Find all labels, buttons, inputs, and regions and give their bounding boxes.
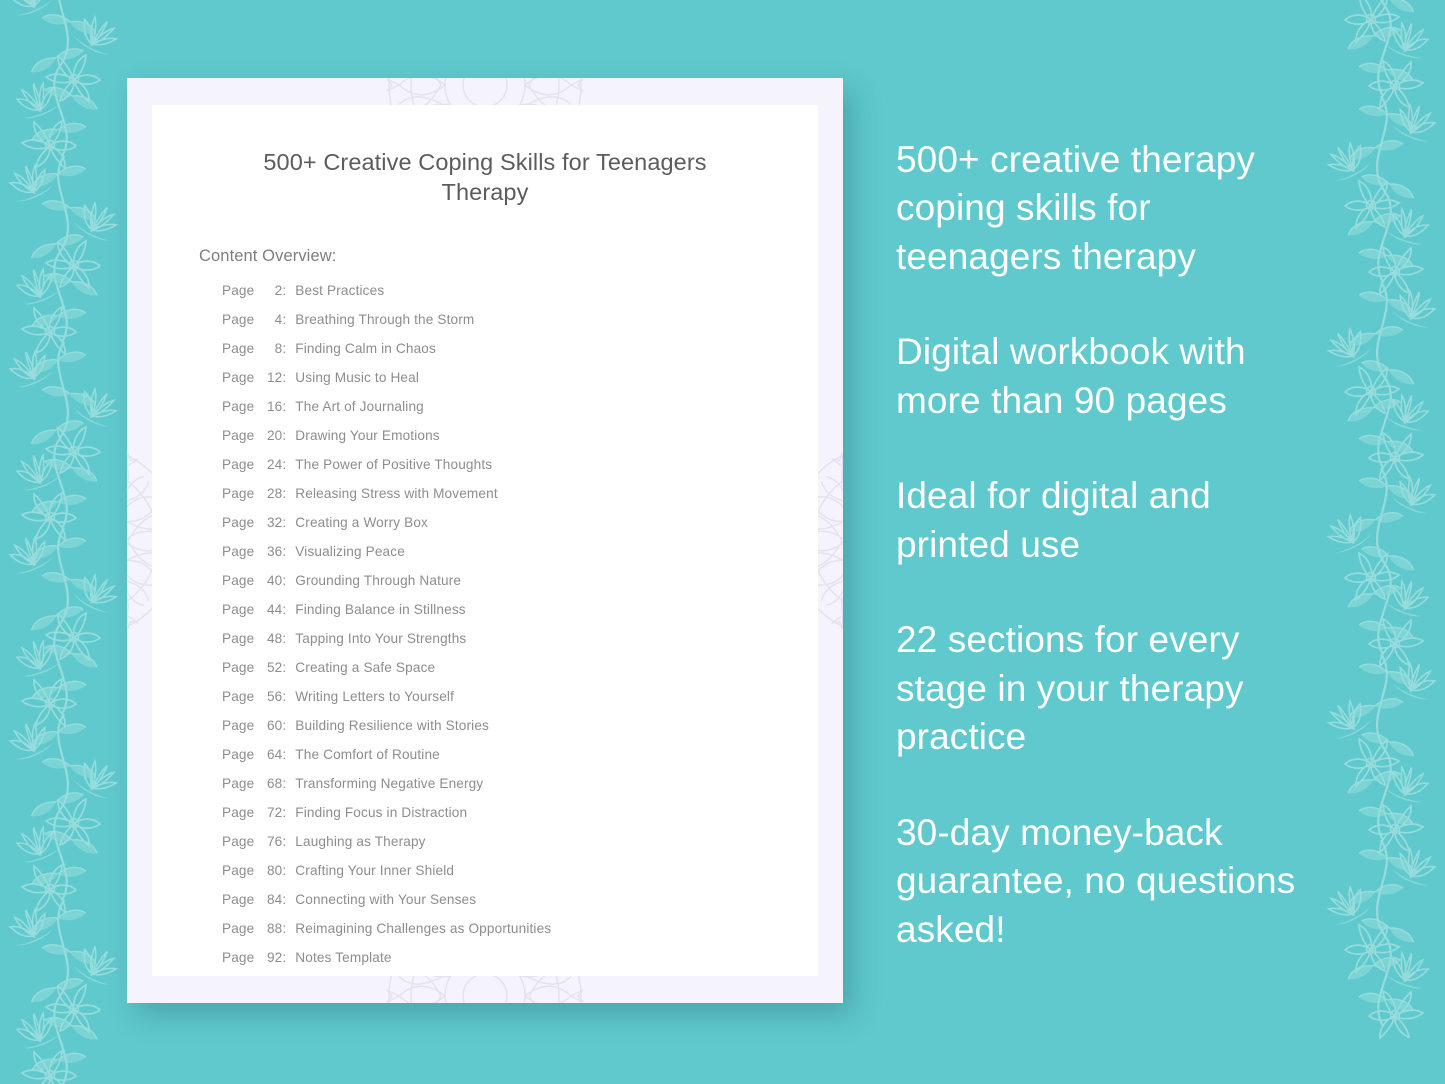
toc-page-word: Page — [222, 574, 254, 588]
toc-page-number: 36 — [258, 545, 282, 559]
toc-colon: : — [282, 777, 286, 791]
toc-entry: Page92:Notes Template — [222, 951, 818, 980]
toc-entry-title: Drawing Your Emotions — [295, 429, 439, 443]
toc-entry-title: Using Music to Heal — [295, 371, 419, 385]
toc-entry-title: Laughing as Therapy — [295, 835, 425, 849]
toc-page-word: Page — [222, 777, 254, 791]
toc-entry: Page8:Finding Calm in Chaos — [222, 342, 818, 371]
toc-page-number: 88 — [258, 922, 282, 936]
toc-page-word: Page — [222, 545, 254, 559]
toc-entry: Page56:Writing Letters to Yourself — [222, 690, 818, 719]
toc-page-number: 32 — [258, 516, 282, 530]
toc-colon: : — [282, 545, 286, 559]
toc-entry: Page36:Visualizing Peace — [222, 545, 818, 574]
toc-page-number: 44 — [258, 603, 282, 617]
toc-entry-title: The Comfort of Routine — [295, 748, 440, 762]
toc-page-word: Page — [222, 951, 254, 965]
toc-colon: : — [282, 458, 286, 472]
content-overview-label: Content Overview: — [152, 207, 818, 266]
toc-page-word: Page — [222, 342, 254, 356]
toc-colon: : — [282, 574, 286, 588]
toc-colon: : — [282, 342, 286, 356]
toc-colon: : — [282, 661, 286, 675]
toc-entry: Page76:Laughing as Therapy — [222, 835, 818, 864]
table-of-contents-list: Page2:Best PracticesPage4:Breathing Thro… — [152, 266, 818, 980]
toc-entry: Page16:The Art of Journaling — [222, 400, 818, 429]
toc-colon: : — [282, 400, 286, 414]
toc-page-number: 84 — [258, 893, 282, 907]
marketing-block: 30-day money-back guarantee, no question… — [896, 809, 1326, 954]
toc-page-word: Page — [222, 748, 254, 762]
toc-page-word: Page — [222, 516, 254, 530]
toc-page-word: Page — [222, 458, 254, 472]
toc-entry-title: Crafting Your Inner Shield — [295, 864, 454, 878]
toc-page-word: Page — [222, 400, 254, 414]
marketing-block: 500+ creative therapy coping skills for … — [896, 136, 1326, 281]
toc-entry-title: Notes Template — [295, 951, 391, 965]
toc-entry: Page32:Creating a Worry Box — [222, 516, 818, 545]
toc-page-number: 56 — [258, 690, 282, 704]
toc-page-number: 92 — [258, 951, 282, 965]
toc-colon: : — [282, 864, 286, 878]
toc-entry-title: Writing Letters to Yourself — [295, 690, 454, 704]
toc-entry-title: Creating a Worry Box — [295, 516, 428, 530]
marketing-panel: 500+ creative therapy coping skills for … — [896, 136, 1326, 954]
toc-page-number: 8 — [258, 342, 282, 356]
toc-page-word: Page — [222, 284, 254, 298]
toc-entry-title: Grounding Through Nature — [295, 574, 461, 588]
floral-border-right-icon — [1317, 0, 1445, 1084]
toc-colon: : — [282, 690, 286, 704]
toc-colon: : — [282, 487, 286, 501]
toc-page-number: 28 — [258, 487, 282, 501]
toc-colon: : — [282, 951, 286, 965]
toc-page-number: 48 — [258, 632, 282, 646]
toc-page-number: 40 — [258, 574, 282, 588]
toc-colon: : — [282, 719, 286, 733]
toc-page-number: 68 — [258, 777, 282, 791]
toc-entry-title: Reimagining Challenges as Opportunities — [295, 922, 551, 936]
toc-colon: : — [282, 603, 286, 617]
toc-page-word: Page — [222, 371, 254, 385]
toc-colon: : — [282, 893, 286, 907]
toc-entry: Page80:Crafting Your Inner Shield — [222, 864, 818, 893]
toc-entry: Page12:Using Music to Heal — [222, 371, 818, 400]
toc-page-word: Page — [222, 632, 254, 646]
toc-page-number: 20 — [258, 429, 282, 443]
toc-entry: Page72:Finding Focus in Distraction — [222, 806, 818, 835]
toc-page-number: 52 — [258, 661, 282, 675]
toc-entry: Page4:Breathing Through the Storm — [222, 313, 818, 342]
toc-page-word: Page — [222, 603, 254, 617]
toc-colon: : — [282, 516, 286, 530]
toc-page-number: 4 — [258, 313, 282, 327]
toc-entry: Page52:Creating a Safe Space — [222, 661, 818, 690]
toc-page-number: 12 — [258, 371, 282, 385]
toc-page-number: 64 — [258, 748, 282, 762]
toc-colon: : — [282, 922, 286, 936]
floral-border-left-icon — [0, 0, 128, 1084]
toc-page-word: Page — [222, 690, 254, 704]
toc-page-word: Page — [222, 719, 254, 733]
toc-entry: Page84:Connecting with Your Senses — [222, 893, 818, 922]
toc-entry: Page68:Transforming Negative Energy — [222, 777, 818, 806]
toc-page-word: Page — [222, 313, 254, 327]
toc-entry-title: Releasing Stress with Movement — [295, 487, 497, 501]
document-title: 500+ Creative Coping Skills for Teenager… — [152, 105, 818, 207]
toc-colon: : — [282, 284, 286, 298]
toc-entry-title: Finding Balance in Stillness — [295, 603, 465, 617]
toc-entry: Page28:Releasing Stress with Movement — [222, 487, 818, 516]
toc-entry: Page48:Tapping Into Your Strengths — [222, 632, 818, 661]
toc-entry-title: Building Resilience with Stories — [295, 719, 489, 733]
toc-entry-title: Finding Focus in Distraction — [295, 806, 467, 820]
toc-page-number: 72 — [258, 806, 282, 820]
toc-entry: Page60:Building Resilience with Stories — [222, 719, 818, 748]
toc-entry-title: Connecting with Your Senses — [295, 893, 476, 907]
toc-entry-title: Tapping Into Your Strengths — [295, 632, 466, 646]
toc-colon: : — [282, 313, 286, 327]
toc-page-number: 80 — [258, 864, 282, 878]
toc-entry-title: Finding Calm in Chaos — [295, 342, 436, 356]
toc-page-number: 76 — [258, 835, 282, 849]
toc-page-word: Page — [222, 835, 254, 849]
toc-entry: Page88:Reimagining Challenges as Opportu… — [222, 922, 818, 951]
marketing-block: 22 sections for every stage in your ther… — [896, 616, 1326, 761]
toc-page-word: Page — [222, 487, 254, 501]
toc-entry-title: Transforming Negative Energy — [295, 777, 483, 791]
toc-colon: : — [282, 632, 286, 646]
toc-entry-title: The Art of Journaling — [295, 400, 424, 414]
toc-page-word: Page — [222, 806, 254, 820]
marketing-block: Digital workbook with more than 90 pages — [896, 328, 1326, 425]
toc-page-number: 16 — [258, 400, 282, 414]
toc-colon: : — [282, 429, 286, 443]
toc-entry: Page40:Grounding Through Nature — [222, 574, 818, 603]
toc-page-number: 2 — [258, 284, 282, 298]
toc-page-word: Page — [222, 893, 254, 907]
toc-colon: : — [282, 371, 286, 385]
toc-page-word: Page — [222, 864, 254, 878]
toc-page-number: 60 — [258, 719, 282, 733]
toc-entry: Page64:The Comfort of Routine — [222, 748, 818, 777]
toc-page-word: Page — [222, 429, 254, 443]
toc-entry-title: Creating a Safe Space — [295, 661, 435, 675]
toc-entry: Page44:Finding Balance in Stillness — [222, 603, 818, 632]
document-preview-card: 500+ Creative Coping Skills for Teenager… — [127, 78, 843, 1003]
toc-colon: : — [282, 806, 286, 820]
toc-page-word: Page — [222, 922, 254, 936]
toc-colon: : — [282, 835, 286, 849]
toc-entry: Page2:Best Practices — [222, 284, 818, 313]
toc-page-word: Page — [222, 661, 254, 675]
toc-entry-title: Visualizing Peace — [295, 545, 405, 559]
toc-page-number: 24 — [258, 458, 282, 472]
toc-entry-title: The Power of Positive Thoughts — [295, 458, 492, 472]
document-page: 500+ Creative Coping Skills for Teenager… — [152, 105, 818, 976]
toc-entry: Page24:The Power of Positive Thoughts — [222, 458, 818, 487]
toc-entry: Page20:Drawing Your Emotions — [222, 429, 818, 458]
toc-entry-title: Breathing Through the Storm — [295, 313, 474, 327]
marketing-block: Ideal for digital and printed use — [896, 472, 1326, 569]
toc-entry-title: Best Practices — [295, 284, 384, 298]
toc-colon: : — [282, 748, 286, 762]
